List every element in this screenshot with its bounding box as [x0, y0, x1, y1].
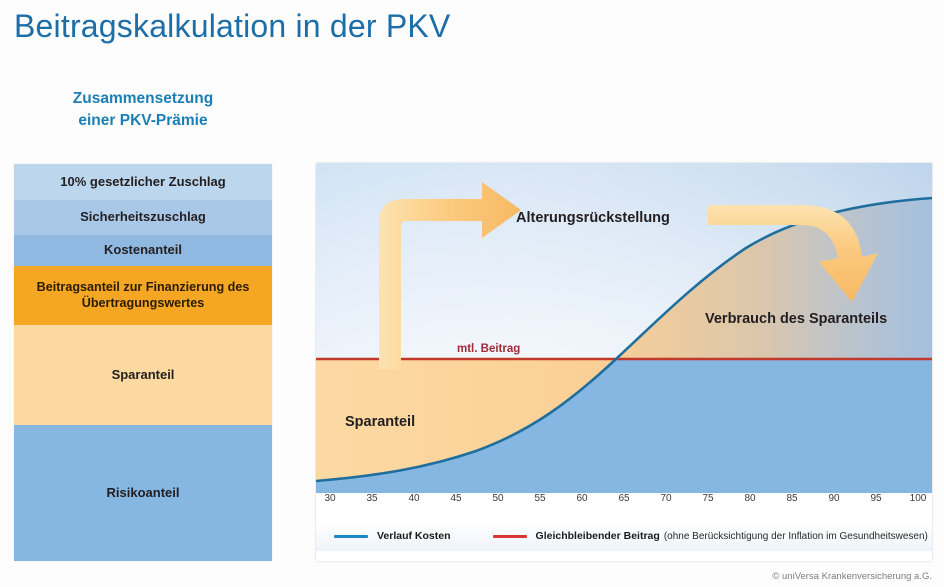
chart-legend: Verlauf KostenGleichbleibender Beitrag(o…: [316, 521, 932, 551]
x-tick-45: 45: [450, 493, 461, 504]
premium-segment-label: Sicherheitszuschlag: [72, 209, 214, 225]
x-tick-80: 80: [744, 493, 755, 504]
legend-item-0: Verlauf Kosten: [334, 530, 451, 542]
annotation-mtl-beitrag: mtl. Beitrag: [457, 343, 520, 355]
x-tick-100: 100: [910, 493, 927, 504]
annotation-verbrauch-des-sparanteils: Verbrauch des Sparanteils: [705, 311, 887, 327]
x-tick-65: 65: [618, 493, 629, 504]
premium-segment-label: Beitragsanteil zur Finanzierung des Über…: [14, 280, 272, 311]
x-tick-55: 55: [534, 493, 545, 504]
legend-swatch-icon: [334, 535, 368, 538]
premium-segment-2: Kostenanteil: [14, 235, 272, 266]
x-tick-35: 35: [366, 493, 377, 504]
annotation-alterungsrueckstellung: Alterungsrückstellung: [516, 210, 670, 226]
x-tick-30: 30: [324, 493, 335, 504]
left-panel-heading: Zusammensetzung einer PKV-Prämie: [14, 88, 272, 133]
left-panel-heading-line-1: Zusammensetzung: [14, 88, 272, 110]
annotation-sparanteil: Sparanteil: [345, 414, 415, 430]
legend-label: Verlauf Kosten: [377, 530, 451, 542]
cost-development-chart: Alterungsrückstellung Verbrauch des Spar…: [316, 163, 932, 561]
premium-segment-label: 10% gesetzlicher Zuschlag: [52, 174, 233, 190]
x-tick-70: 70: [660, 493, 671, 504]
premium-segment-1: Sicherheitszuschlag: [14, 200, 272, 235]
premium-segment-label: Kostenanteil: [96, 242, 190, 258]
premium-segment-3: Beitragsanteil zur Finanzierung des Über…: [14, 266, 272, 325]
x-tick-95: 95: [870, 493, 881, 504]
premium-segment-0: 10% gesetzlicher Zuschlag: [14, 164, 272, 200]
legend-note: (ohne Berücksichtigung der Inflation im …: [664, 531, 928, 542]
premium-segment-label: Sparanteil: [104, 367, 183, 383]
x-tick-85: 85: [786, 493, 797, 504]
copyright-notice: © uniVersa Krankenversicherung a.G.: [772, 571, 932, 582]
premium-composition-stack: 10% gesetzlicher ZuschlagSicherheitszusc…: [14, 164, 272, 561]
legend-swatch-icon: [493, 535, 527, 538]
premium-segment-5: Risikoanteil: [14, 425, 272, 561]
premium-segment-label: Risikoanteil: [99, 485, 188, 501]
premium-segment-4: Sparanteil: [14, 325, 272, 425]
x-axis-tick-labels: 3035404550556065707580859095100: [316, 493, 932, 515]
x-tick-40: 40: [408, 493, 419, 504]
left-panel-heading-line-2: einer PKV-Prämie: [14, 110, 272, 132]
x-tick-90: 90: [828, 493, 839, 504]
legend-item-1: Gleichbleibender Beitrag(ohne Berücksich…: [493, 530, 928, 542]
x-tick-50: 50: [492, 493, 503, 504]
x-tick-60: 60: [576, 493, 587, 504]
page-title: Beitragskalkulation in der PKV: [14, 8, 450, 45]
x-tick-75: 75: [702, 493, 713, 504]
legend-label: Gleichbleibender Beitrag: [536, 530, 660, 542]
